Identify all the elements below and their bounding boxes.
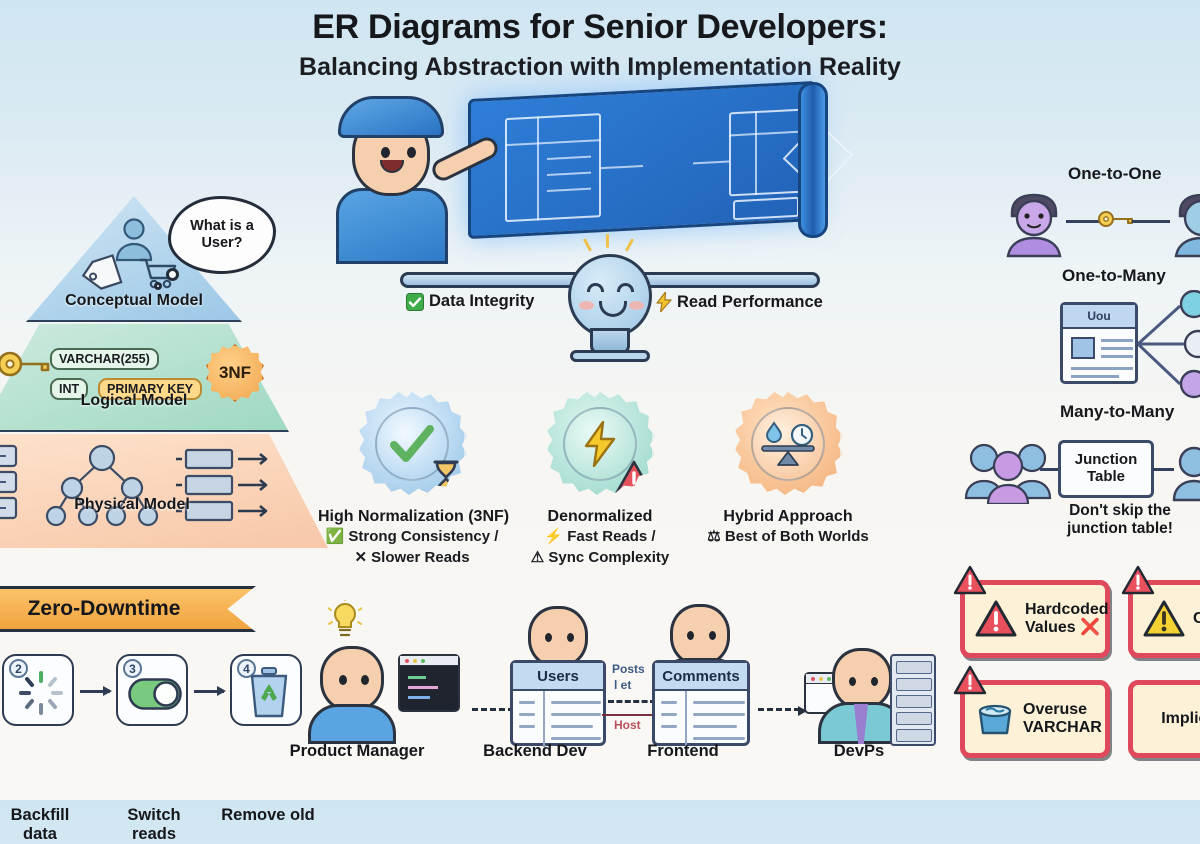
scale-base xyxy=(570,350,650,362)
warning-label-3: Implie Join xyxy=(1161,710,1200,728)
badge-card-high-normalization: High Normalization (3NF) ✅ Strong Consis… xyxy=(318,392,506,568)
poster-canvas: ER Diagrams for Senior Developers: Balan… xyxy=(0,0,1200,800)
person-avatar xyxy=(1166,190,1200,258)
person-avatar xyxy=(1168,442,1200,502)
server-rack-icon xyxy=(0,442,28,528)
document-card-label: Uou xyxy=(1063,305,1135,329)
varchar-bucket-icon xyxy=(974,701,1016,737)
red-warning-triangle-icon xyxy=(974,599,1018,639)
balance-droplet-clock-icon xyxy=(759,420,817,468)
users-table-card: Users xyxy=(510,660,606,746)
yellow-warning-triangle-icon xyxy=(1142,599,1186,639)
btree-index-icon xyxy=(38,442,166,528)
warning-card-complex: Co xyxy=(1128,580,1200,658)
backend-dev-head xyxy=(528,606,588,668)
warning-label-2: Overuse VARCHAR xyxy=(1023,701,1102,736)
key-icon xyxy=(0,344,52,384)
tradeoff-balance-scale: Data Integrity Read Performance xyxy=(390,250,830,360)
red-warning-triangle-icon xyxy=(614,458,654,498)
warning-card-implicit-joins: Implie Join xyxy=(1128,680,1200,758)
chip-varchar: VARCHAR(255) xyxy=(50,348,159,370)
ribbon-label: Zero-Downtime xyxy=(28,597,199,621)
scale-left-text: Data Integrity xyxy=(429,292,534,311)
junction-table-note: Don't skip the junction table! xyxy=(1046,502,1194,539)
step-card-switch-reads: 3 Switch reads xyxy=(116,654,188,726)
document-card: Uou xyxy=(1060,302,1138,384)
badge-sub-2-line1: ⚖ Best of Both Worlds xyxy=(694,528,882,547)
smiley-face-icon xyxy=(568,254,652,338)
normalization-strategy-badges: High Normalization (3NF) ✅ Strong Consis… xyxy=(318,392,884,582)
zero-downtime-ribbon: Zero-Downtime xyxy=(0,586,256,632)
lightning-icon xyxy=(656,292,672,312)
relation-title-one-to-many: One-to-Many xyxy=(1062,266,1166,286)
team-label-product-manager: Product Manager xyxy=(282,742,432,761)
spinner-icon xyxy=(18,670,64,716)
check-badge-icon xyxy=(406,293,424,311)
team-collaboration-flow: Product Manager Users Backend Dev Posts … xyxy=(292,596,942,800)
red-warning-triangle-icon xyxy=(953,665,987,695)
relation-title-many-to-many: Many-to-Many xyxy=(1060,402,1174,422)
team-label-backend-dev: Backend Dev xyxy=(460,742,610,761)
person-avatar xyxy=(998,190,1070,258)
step-label-switch-reads: Switch reads xyxy=(106,806,202,844)
product-manager-head xyxy=(320,646,384,712)
relationship-cardinality-panel: One-to-One One-to-Many Uou xyxy=(960,150,1200,570)
devops-head xyxy=(832,648,892,710)
server-rack-icon xyxy=(890,654,936,746)
medal-denormalized xyxy=(548,392,652,496)
scale-right-text: Read Performance xyxy=(677,293,823,312)
page-title: ER Diagrams for Senior Developers: Balan… xyxy=(0,8,1200,82)
red-warning-triangle-icon xyxy=(1121,565,1155,595)
badge-sub-1-line2: ⚠ Sync Complexity xyxy=(506,549,694,568)
users-table-title: Users xyxy=(513,663,603,691)
warning-card-hardcoded-values: Hardcoded Values ❌ xyxy=(960,580,1110,658)
hourglass-icon xyxy=(426,458,466,498)
pyramid-label-physical: Physical Model xyxy=(0,496,328,514)
er-blueprint-scroll xyxy=(468,81,816,239)
thought-bubble-dot-small xyxy=(154,282,162,290)
badge-sub-1-line1: ⚡ Fast Reads / xyxy=(506,528,694,547)
three-avatars-icon xyxy=(962,438,1056,504)
junction-table-box: Junction Table xyxy=(1058,440,1154,498)
badge-title-1: Denormalized xyxy=(506,508,694,526)
warning-label-1: Co xyxy=(1193,610,1200,628)
step-label-backfill: Backfill data xyxy=(0,806,88,844)
badge-card-hybrid-approach: Hybrid Approach ⚖ Best of Both Worlds xyxy=(694,392,882,547)
blueprint-roll xyxy=(798,82,828,238)
badge-card-denormalized: Denormalized ⚡ Fast Reads / ⚠ Sync Compl… xyxy=(506,392,694,568)
lightbulb-icon xyxy=(328,600,362,640)
title-main-text: ER Diagrams for Senior Developers: xyxy=(0,8,1200,47)
thought-bubble-dot-large xyxy=(166,268,179,281)
badge-title-0: High Normalization (3NF) xyxy=(318,508,506,526)
badge-title-2: Hybrid Approach xyxy=(694,508,882,526)
link-tag-secondary: l et xyxy=(614,678,631,692)
red-warning-triangle-icon xyxy=(953,565,987,595)
link-tag-host: Host xyxy=(614,718,641,732)
scale-left-label: Data Integrity xyxy=(406,292,534,311)
badge-sub-0-line1: ✅ Strong Consistency / xyxy=(318,528,506,547)
antipattern-warning-cards: Hardcoded Values ❌ Co Overuse xyxy=(952,572,1200,792)
terminal-window-icon xyxy=(398,654,460,712)
comments-table-card: Comments xyxy=(652,660,750,746)
key-icon xyxy=(1098,210,1134,228)
developer-blueprint-scene xyxy=(300,78,860,263)
team-label-frontend: Frontend xyxy=(608,742,758,761)
warning-card-overuse-varchar: Overuse VARCHAR xyxy=(960,680,1110,758)
one-to-many-fan-lines xyxy=(1136,290,1200,400)
comments-table-title: Comments xyxy=(655,663,747,691)
step-card-backfill: 2 Backfill data xyxy=(2,654,74,726)
step-label-remove-old: Remove old xyxy=(220,806,316,825)
team-label-devops: DevPs xyxy=(784,742,934,761)
frontend-dev-head xyxy=(670,604,730,666)
relation-title-one-to-one: One-to-One xyxy=(1068,164,1162,184)
zero-downtime-migration-flow: Zero-Downtime 2 Backfill data 3 Swi xyxy=(0,586,290,798)
developer-cap-icon xyxy=(338,96,444,138)
product-manager-torso xyxy=(308,704,396,744)
step-number-3: 3 xyxy=(123,659,142,678)
link-tag-posts: Posts xyxy=(612,662,645,676)
recycle-bin-icon xyxy=(246,666,292,718)
medal-hybrid-approach xyxy=(736,392,840,496)
pyramid-label-conceptual: Conceptual Model xyxy=(26,292,242,310)
toggle-on-icon xyxy=(128,678,182,710)
warning-label-0: Hardcoded Values ❌ xyxy=(1025,601,1109,636)
medal-high-normalization xyxy=(360,392,464,496)
scale-right-label: Read Performance xyxy=(656,292,823,312)
lightning-bolt-icon xyxy=(583,421,617,467)
partition-icon xyxy=(170,446,278,526)
badge-sub-0-line2: ✕ Slower Reads xyxy=(318,549,506,568)
